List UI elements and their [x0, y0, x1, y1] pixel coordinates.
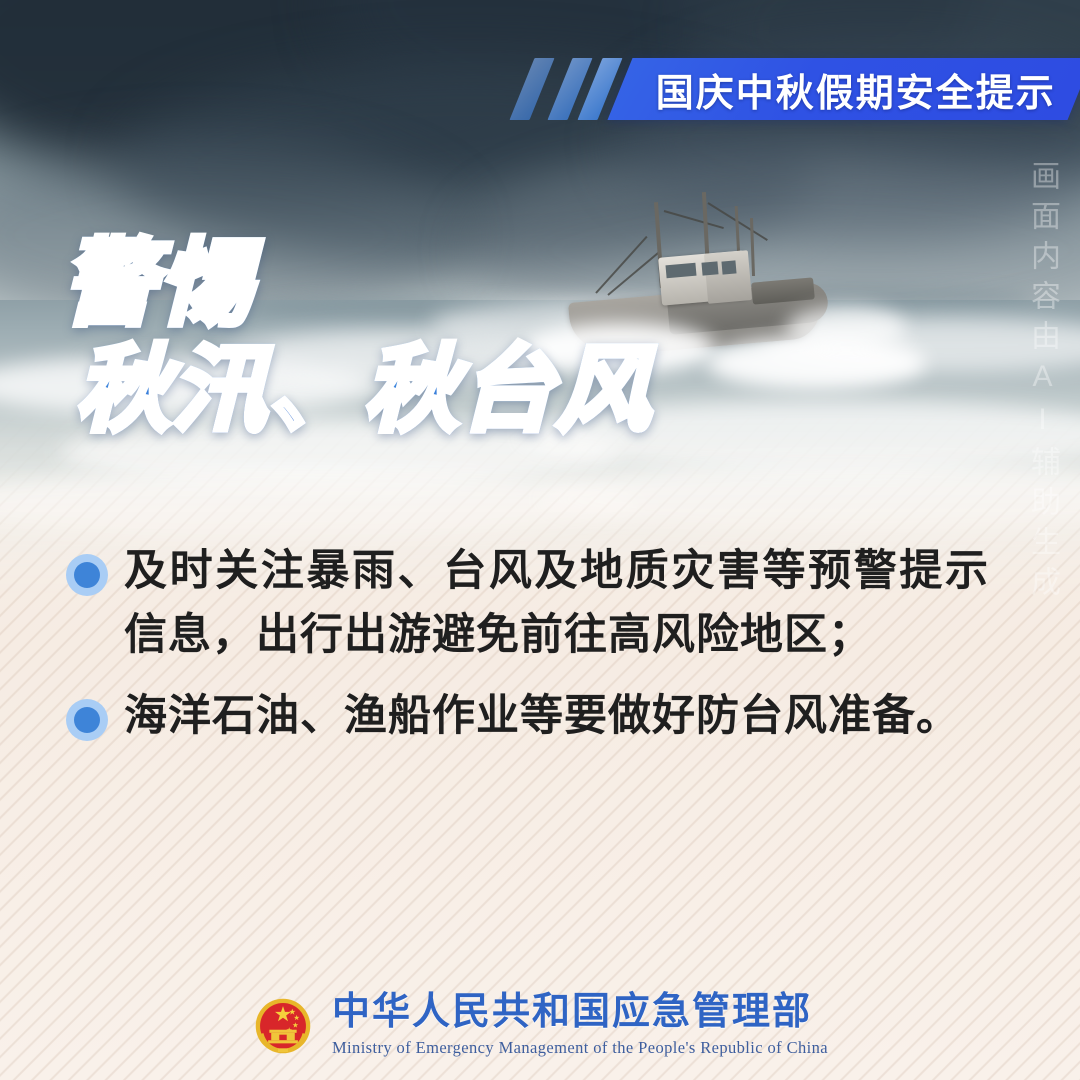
ministry-name-cn: 中华人民共和国应急管理部	[332, 993, 812, 1033]
footer-text-block: 中华人民共和国应急管理部 Ministry of Emergency Manag…	[332, 993, 828, 1058]
banner-block: 国庆中秋假期安全提示	[607, 58, 1080, 120]
list-item: 海洋石油、渔船作业等要做好防台风准备。	[66, 685, 1016, 749]
ministry-name-en: Ministry of Emergency Management of the …	[332, 1038, 828, 1058]
headline: 警惕 秋汛、秋台风	[62, 236, 762, 438]
banner-title: 国庆中秋假期安全提示	[656, 62, 1056, 117]
header-banner: 国庆中秋假期安全提示	[522, 58, 1080, 120]
list-item-text: 海洋石油、渔船作业等要做好防台风准备。	[124, 685, 960, 749]
poster-canvas: 国庆中秋假期安全提示 警惕 秋汛、秋台风 画面内容由AI辅助生成 及时关注暴雨、…	[0, 0, 1080, 1080]
footer: 中华人民共和国应急管理部 Ministry of Emergency Manag…	[0, 993, 1080, 1058]
list-item: 及时关注暴雨、台风及地质灾害等预警提示信息，出行出游避免前往高风险地区；	[66, 540, 1016, 667]
safety-tips-list: 及时关注暴雨、台风及地质灾害等预警提示信息，出行出游避免前往高风险地区； 海洋石…	[66, 540, 1016, 767]
bullet-dot-icon	[66, 699, 108, 741]
headline-line-2: 秋汛、秋台风	[76, 342, 762, 438]
bullet-dot-icon	[66, 554, 108, 596]
list-item-text: 及时关注暴雨、台风及地质灾害等预警提示信息，出行出游避免前往高风险地区；	[124, 540, 989, 667]
national-emblem-icon	[252, 995, 314, 1057]
ai-watermark: 画面内容由AI辅助生成	[1020, 160, 1064, 606]
headline-line-1: 警惕	[62, 236, 762, 332]
